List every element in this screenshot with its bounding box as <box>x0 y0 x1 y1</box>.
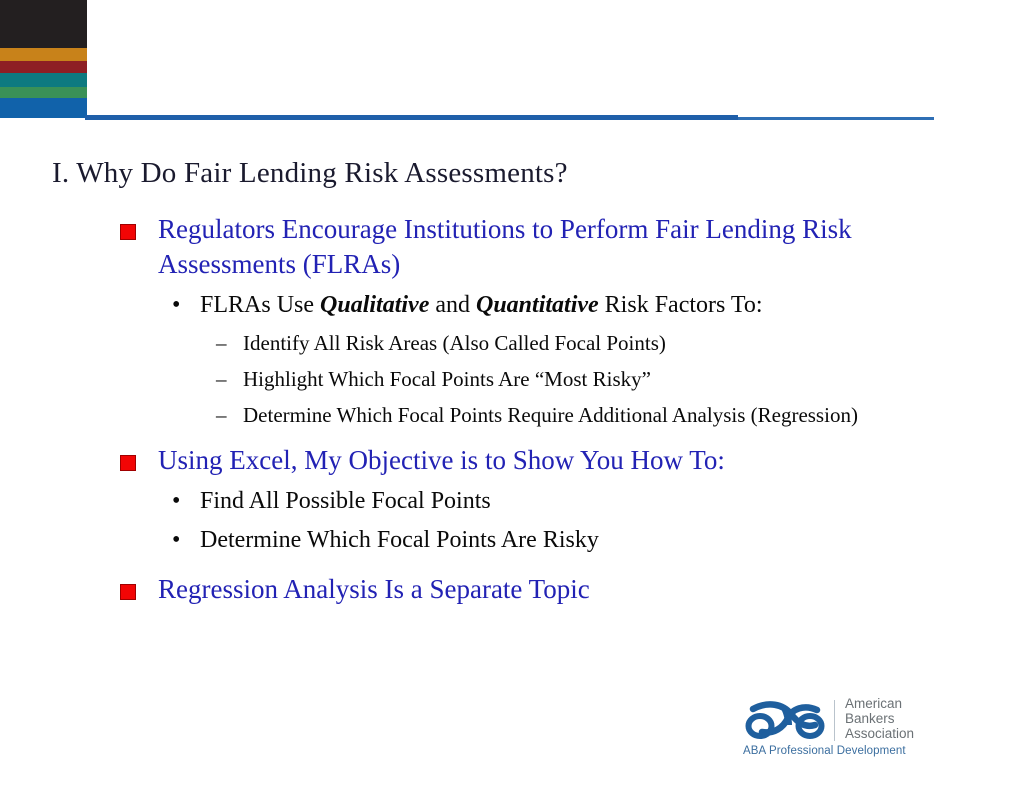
slide-body: Regulators Encourage Institutions to Per… <box>0 212 1024 610</box>
spacer <box>0 429 1024 443</box>
red-square-bullet-icon <box>120 455 136 471</box>
logo-line-american: American <box>845 696 914 711</box>
spacer <box>0 556 1024 572</box>
dash-bullet-icon: – <box>216 366 227 393</box>
aba-monogram-icon <box>742 697 828 741</box>
slide: I. Why Do Fair Lending Risk Assessments?… <box>0 0 1024 791</box>
header-band-red <box>0 61 87 73</box>
bullet-level2-determine-risky: • Determine Which Focal Points Are Risky <box>0 525 1024 556</box>
logo-line-bankers: Bankers <box>845 711 914 726</box>
header-band-green <box>0 87 87 98</box>
logo-divider <box>834 700 835 741</box>
bullet-level3-identify: – Identify All Risk Areas (Also Called F… <box>0 330 1024 357</box>
red-square-bullet-icon <box>120 584 136 600</box>
bullet-text: Regulators Encourage Institutions to Per… <box>158 214 852 279</box>
header-band-blue <box>0 98 87 118</box>
red-square-bullet-icon <box>120 224 136 240</box>
header-band-gold <box>0 48 87 61</box>
header-band-dark <box>0 0 87 48</box>
aba-logo: American Bankers Association ABA Profess… <box>742 695 942 767</box>
bullet-text: Regression Analysis Is a Separate Topic <box>158 574 590 604</box>
bullet-level2-find-focal-points: • Find All Possible Focal Points <box>0 486 1024 517</box>
dot-bullet-icon: • <box>172 525 180 556</box>
dot-bullet-icon: • <box>172 486 180 517</box>
bullet-text: Find All Possible Focal Points <box>200 488 491 514</box>
bullet-level3-highlight: – Highlight Which Focal Points Are “Most… <box>0 366 1024 393</box>
bullet-level2-flras-use: • FLRAs Use Qualitative and Quantitative… <box>0 290 1024 321</box>
bullet-level1-regulators: Regulators Encourage Institutions to Per… <box>0 212 1024 282</box>
header-color-block <box>0 0 87 118</box>
emphasis-qualitative: Qualitative <box>320 292 429 318</box>
header-band-teal <box>0 73 87 87</box>
logo-tagline: ABA Professional Development <box>743 745 906 757</box>
bullet-level3-determine: – Determine Which Focal Points Require A… <box>0 402 1024 429</box>
dash-bullet-icon: – <box>216 402 227 429</box>
bullet-text: Determine Which Focal Points Are Risky <box>200 527 599 553</box>
bullet-text-after: Risk Factors To: <box>599 292 763 318</box>
bullet-text-mid: and <box>429 292 476 318</box>
header-rule-thick <box>85 115 738 120</box>
logo-line-association: Association <box>845 726 914 741</box>
bullet-level1-regression: Regression Analysis Is a Separate Topic <box>0 572 1024 607</box>
bullet-text: Identify All Risk Areas (Also Called Foc… <box>243 331 666 355</box>
bullet-level1-using-excel: Using Excel, My Objective is to Show You… <box>0 443 1024 478</box>
header-rule-thin <box>738 117 934 120</box>
bullet-text-before: FLRAs Use <box>200 292 320 318</box>
bullet-text: Using Excel, My Objective is to Show You… <box>158 445 725 475</box>
dash-bullet-icon: – <box>216 330 227 357</box>
bullet-text: Highlight Which Focal Points Are “Most R… <box>243 367 651 391</box>
emphasis-quantitative: Quantitative <box>476 292 599 318</box>
slide-title: I. Why Do Fair Lending Risk Assessments? <box>52 157 568 190</box>
logo-wordmark: American Bankers Association <box>845 696 914 741</box>
dot-bullet-icon: • <box>172 290 180 321</box>
bullet-text: Determine Which Focal Points Require Add… <box>243 403 858 427</box>
